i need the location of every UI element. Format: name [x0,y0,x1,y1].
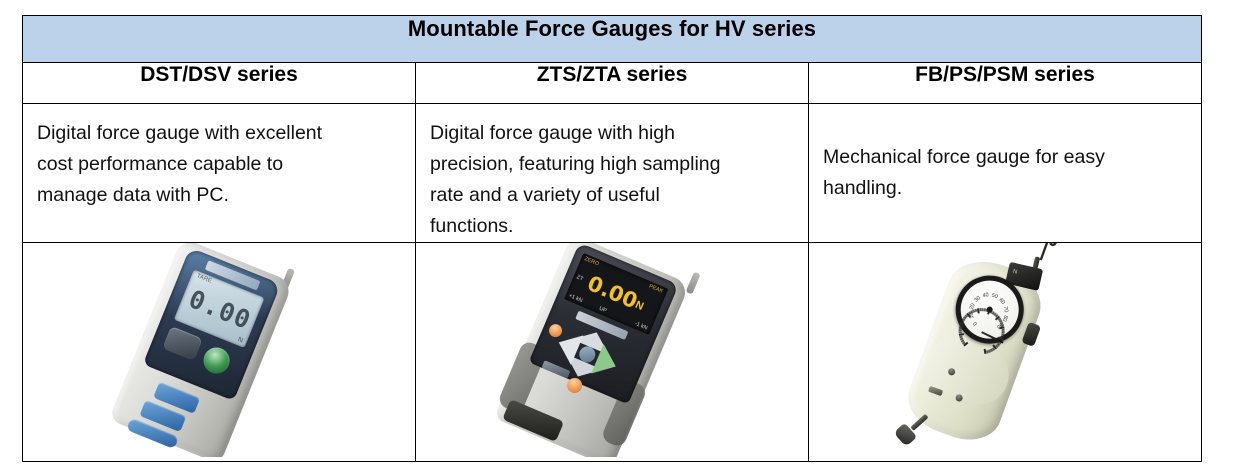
dst-dsv-force-gauge-illustration: TARE 0.00 N [109,243,294,457]
zts-display-tag-min: +1 kN [568,293,584,304]
description-text-dst-dsv: Digital force gauge with excellent cost … [23,104,415,211]
description-row: Digital force gauge with excellent cost … [23,104,1202,243]
description-cell-dst-dsv: Digital force gauge with excellent cost … [23,104,416,243]
zts-color-display: ZERO PEAK ZT 0.00 N +1 kN UP -1 kN [564,253,668,335]
product-image-cell-dst-dsv: TARE 0.00 N [23,243,416,462]
fb-plate-label: N [1012,269,1018,276]
product-image-cell-fb-ps-psm: N 0102030405060708090 [809,243,1202,462]
zts-measuring-shaft [686,272,701,295]
column-header-dst-dsv: DST/DSV series [140,63,298,86]
product-image-zts-zta: ZERO PEAK ZT 0.00 N +1 kN UP -1 kN [416,243,808,457]
zts-display-tag-max: -1 kN [634,321,648,332]
table-title-row: Mountable Force Gauges for HV series [23,16,1202,63]
table-title: Mountable Force Gauges for HV series [408,16,816,41]
zts-display-value: 0.00 [584,271,641,313]
column-header-cell-fb-ps-psm: FB/PS/PSM series [809,63,1202,104]
page-root: Mountable Force Gauges for HV series DST… [0,0,1243,469]
dst-power-button [200,344,234,378]
zts-display-tag-model: ZT [575,274,584,282]
product-image-fb-ps-psm: N 0102030405060708090 [809,243,1201,457]
zts-display-tag-up: UP [598,306,607,315]
product-image-cell-zts-zta: ZERO PEAK ZT 0.00 N +1 kN UP -1 kN [416,243,809,462]
product-image-row: TARE 0.00 N [23,243,1202,462]
column-header-cell-zts-zta: ZTS/ZTA series [416,63,809,104]
column-header-fb-ps-psm: FB/PS/PSM series [915,63,1095,86]
description-text-fb-ps-psm: Mechanical force gauge for easy handling… [809,142,1201,204]
column-header-zts-zta: ZTS/ZTA series [537,63,688,86]
dst-lcd-unit: N [237,336,244,344]
description-cell-zts-zta: Digital force gauge with high precision,… [416,104,809,243]
dst-lcd-mode-tag: TARE [196,273,213,284]
table-title-cell: Mountable Force Gauges for HV series [23,16,1202,63]
force-gauge-comparison-table: Mountable Force Gauges for HV series DST… [22,15,1202,462]
dst-lcd-value: 0.00 [185,284,255,335]
column-header-cell-dst-dsv: DST/DSV series [23,63,416,104]
zts-display-tag-peak: PEAK [648,283,664,294]
zts-zta-force-gauge-illustration: ZERO PEAK ZT 0.00 N +1 kN UP -1 kN [494,243,690,457]
column-header-row: DST/DSV series ZTS/ZTA series FB/PS/PSM … [23,63,1202,104]
product-image-dst-dsv: TARE 0.00 N [23,243,415,457]
description-cell-fb-ps-psm: Mechanical force gauge for easy handling… [809,104,1202,243]
dst-function-button [162,326,203,361]
description-text-zts-zta: Digital force gauge with high precision,… [416,104,808,242]
zts-display-tag-zero: ZERO [583,256,599,267]
fb-ps-psm-force-gauge-illustration: N 0102030405060708090 [895,243,1056,457]
